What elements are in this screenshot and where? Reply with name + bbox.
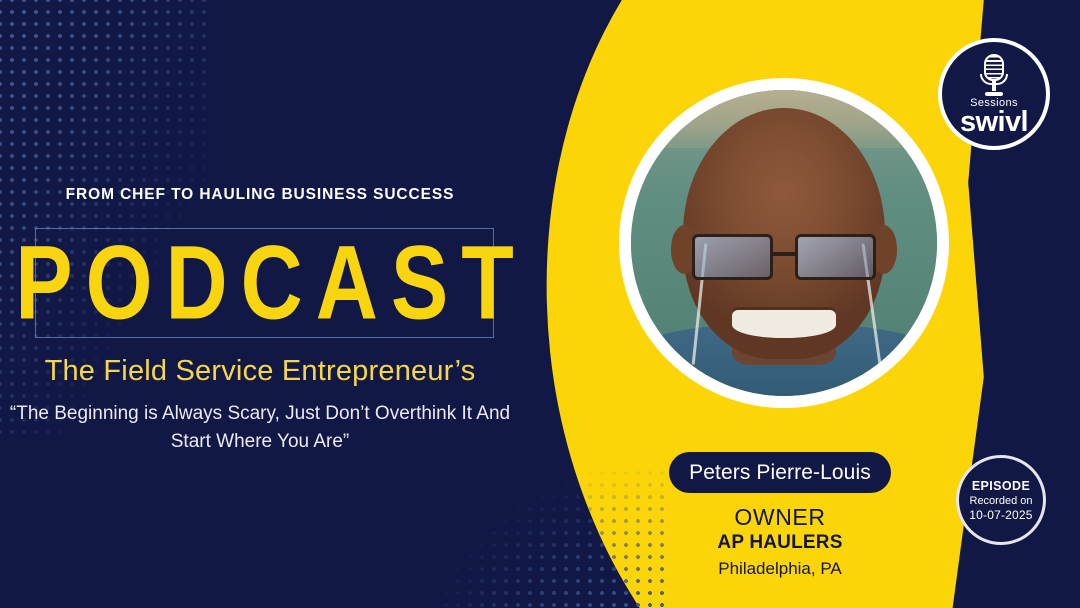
episode-label: EPISODE bbox=[972, 479, 1030, 493]
show-subtitle: The Field Service Entrepreneur’s bbox=[0, 355, 520, 388]
eyeglass-bridge bbox=[773, 252, 795, 256]
eyebrow-tagline: FROM CHEF TO HAULING BUSINESS SUCCESS bbox=[0, 186, 520, 204]
guest-name-badge: Peters Pierre-Louis bbox=[669, 452, 891, 493]
portrait-eyeglasses bbox=[692, 234, 876, 280]
portrait-smile bbox=[732, 310, 836, 338]
episode-badge: EPISODE Recorded on 10-07-2025 bbox=[956, 455, 1046, 545]
episode-date: 10-07-2025 bbox=[969, 508, 1032, 522]
left-text-column: FROM CHEF TO HAULING BUSINESS SUCCESS PO… bbox=[0, 0, 548, 608]
guest-role: OWNER bbox=[640, 504, 920, 531]
eyeglass-lens-left bbox=[692, 234, 773, 280]
episode-recorded-label: Recorded on bbox=[970, 495, 1033, 507]
podcast-promo-graphic: FROM CHEF TO HAULING BUSINESS SUCCESS PO… bbox=[0, 0, 1080, 608]
guest-portrait-frame bbox=[619, 78, 949, 408]
page-title: PODCAST bbox=[2, 231, 526, 336]
eyeglass-lens-right bbox=[795, 234, 876, 280]
episode-quote: “The Beginning is Always Scary, Just Don… bbox=[0, 400, 520, 455]
podcast-title-box: PODCAST bbox=[35, 228, 494, 338]
guest-city: Philadelphia, PA bbox=[640, 559, 920, 579]
swivl-sessions-logo[interactable]: Sessions swivl bbox=[938, 38, 1050, 150]
microphone-icon bbox=[979, 54, 1009, 96]
guest-name-label: Peters Pierre-Louis bbox=[689, 461, 871, 485]
guest-portrait-image bbox=[631, 90, 937, 396]
guest-company: AP HAULERS bbox=[640, 532, 920, 554]
logo-wordmark: swivl bbox=[960, 108, 1028, 137]
